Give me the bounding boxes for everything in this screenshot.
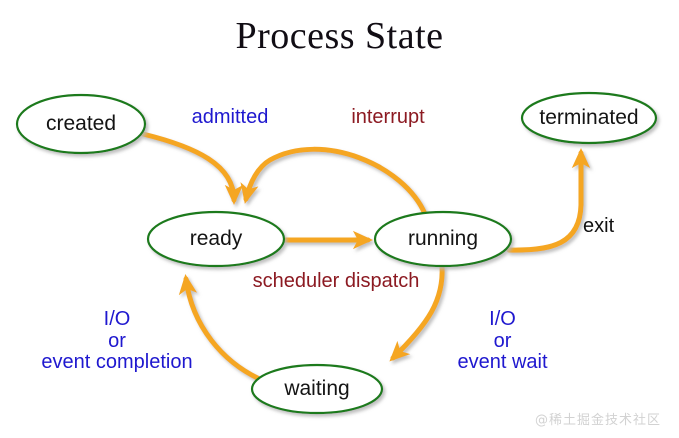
node-terminated[interactable] (522, 93, 656, 143)
edge-created-to-ready (143, 134, 234, 200)
diagram-canvas (0, 0, 679, 438)
edge-waiting-to-ready (186, 279, 264, 381)
node-running[interactable] (375, 212, 511, 266)
process-state-diagram: Process State cr (0, 0, 679, 438)
node-waiting[interactable] (252, 365, 382, 413)
node-ready[interactable] (148, 212, 284, 266)
node-created[interactable] (17, 95, 145, 153)
edge-running-to-waiting (393, 266, 442, 358)
edge-running-to-terminated (509, 153, 581, 250)
watermark: @稀土掘金技术社区 (535, 409, 661, 428)
edge-running-to-ready (246, 149, 425, 214)
nodes-layer (17, 93, 656, 413)
